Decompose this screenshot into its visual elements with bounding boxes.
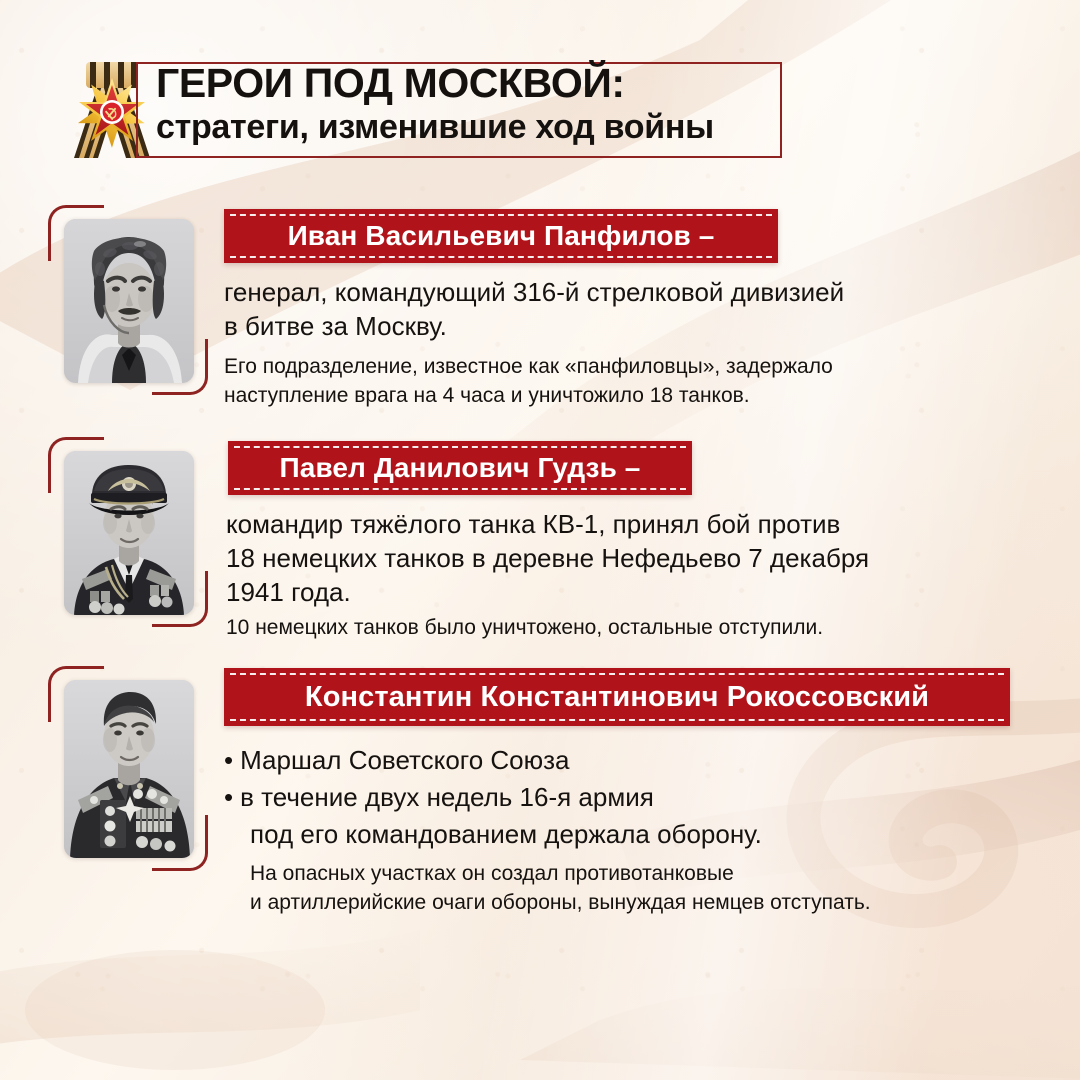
hero-secondary-line: и артиллерийские очаги обороны, вынуждая…	[250, 888, 1044, 917]
hero-name-banner: Павел Данилович Гудзь –	[228, 441, 692, 495]
hero-primary-line: генерал, командующий 316-й стрелковой ди…	[224, 275, 1034, 309]
hero-secondary-line: Его подразделение, известное как «панфил…	[224, 352, 1034, 381]
hero-secondary-note: 10 немецких танков было уничтожено, оста…	[226, 613, 1036, 642]
hero-secondary-line: 10 немецких танков было уничтожено, оста…	[226, 613, 1036, 642]
hero-photo-frame	[48, 666, 208, 871]
hero-description: •Маршал Советского Союза •в течение двух…	[224, 742, 1044, 917]
portrait-rokossovsky-icon	[64, 680, 194, 858]
hero-primary-line: 18 немецких танков в деревне Нефедьево 7…	[226, 541, 1036, 575]
title-line-primary: ГЕРОИ ПОД МОСКВОЙ:	[156, 60, 816, 106]
poster-root: ГЕРОИ ПОД МОСКВОЙ: стратеги, изменившие …	[0, 0, 1080, 1080]
hero-description: генерал, командующий 316-й стрелковой ди…	[224, 275, 1034, 410]
hero-bullet-text: Маршал Советского Союза	[240, 745, 569, 775]
hero-name-banner: Иван Васильевич Панфилов –	[224, 209, 778, 263]
hero-photo-frame	[48, 205, 208, 395]
hero-bullet-text: в течение двух недель 16-я армия	[240, 782, 654, 812]
hero-secondary-line: наступление врага на 4 часа и уничтожило…	[224, 381, 1034, 410]
hero-name-banner: Константин Константинович Рокоссовский	[224, 668, 1010, 726]
hero-description: командир тяжёлого танка КВ-1, принял бой…	[226, 507, 1036, 642]
hero-primary-line: в битве за Москву.	[224, 309, 1034, 343]
portrait-panfilov-icon	[64, 219, 194, 383]
hero-name-label: Константин Константинович Рокоссовский	[224, 668, 1010, 726]
hero-bullet-item: •в течение двух недель 16-я армия	[224, 779, 1044, 816]
hero-name-label: Иван Васильевич Панфилов –	[224, 209, 778, 263]
poster-title: ГЕРОИ ПОД МОСКВОЙ: стратеги, изменившие …	[156, 60, 816, 148]
title-line-secondary: стратеги, изменившие ход войны	[156, 106, 816, 148]
bullet-marker-icon: •	[224, 782, 233, 812]
hero-secondary-note: На опасных участках он создал противотан…	[224, 859, 1044, 917]
hero-primary-line: командир тяжёлого танка КВ-1, принял бой…	[226, 507, 1036, 541]
bullet-marker-icon: •	[224, 745, 233, 775]
hero-photo-frame	[48, 437, 208, 627]
portrait-gudz-icon	[64, 451, 194, 615]
hero-name-label: Павел Данилович Гудзь –	[228, 441, 692, 495]
poster-header: ГЕРОИ ПОД МОСКВОЙ: стратеги, изменившие …	[60, 52, 784, 170]
hero-secondary-note: Его подразделение, известное как «панфил…	[224, 352, 1034, 410]
hero-secondary-line: На опасных участках он создал противотан…	[250, 859, 1044, 888]
hero-bullet-item: •Маршал Советского Союза	[224, 742, 1044, 779]
hero-bullet-continuation: под его командованием держала оборону.	[224, 816, 1044, 853]
hero-primary-line: 1941 года.	[226, 575, 1036, 609]
